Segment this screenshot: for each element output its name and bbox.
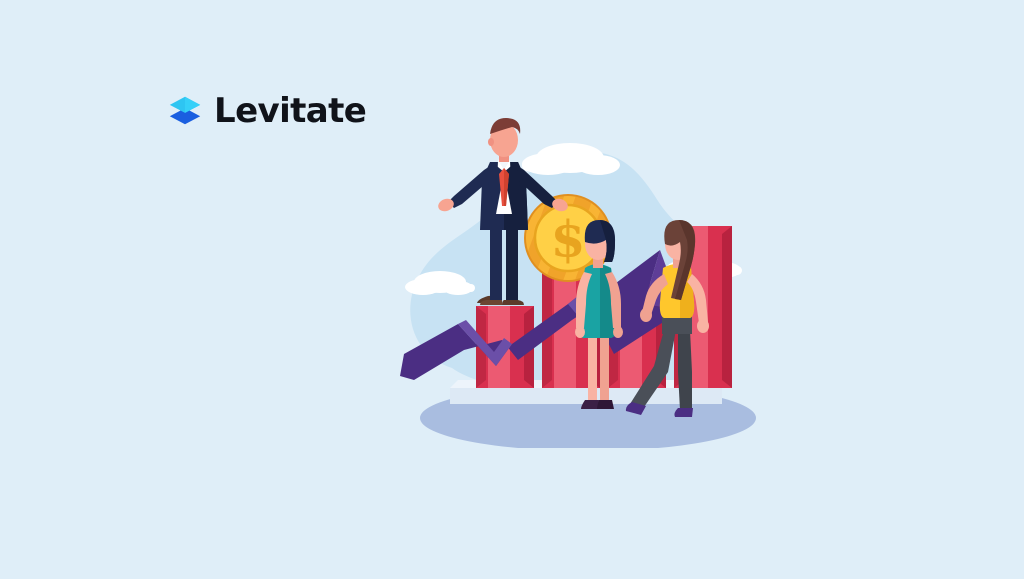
brand-logo[interactable]: Levitate bbox=[166, 92, 366, 130]
page-root: Levitate bbox=[0, 0, 1024, 579]
cloud-top bbox=[522, 143, 620, 175]
coin-dollar-symbol: $ bbox=[551, 210, 586, 269]
business-growth-illustration: $ bbox=[392, 118, 772, 448]
brand-name: Levitate bbox=[214, 94, 366, 128]
illustration-svg: $ bbox=[392, 118, 772, 448]
stacked-layers-icon bbox=[166, 92, 204, 130]
